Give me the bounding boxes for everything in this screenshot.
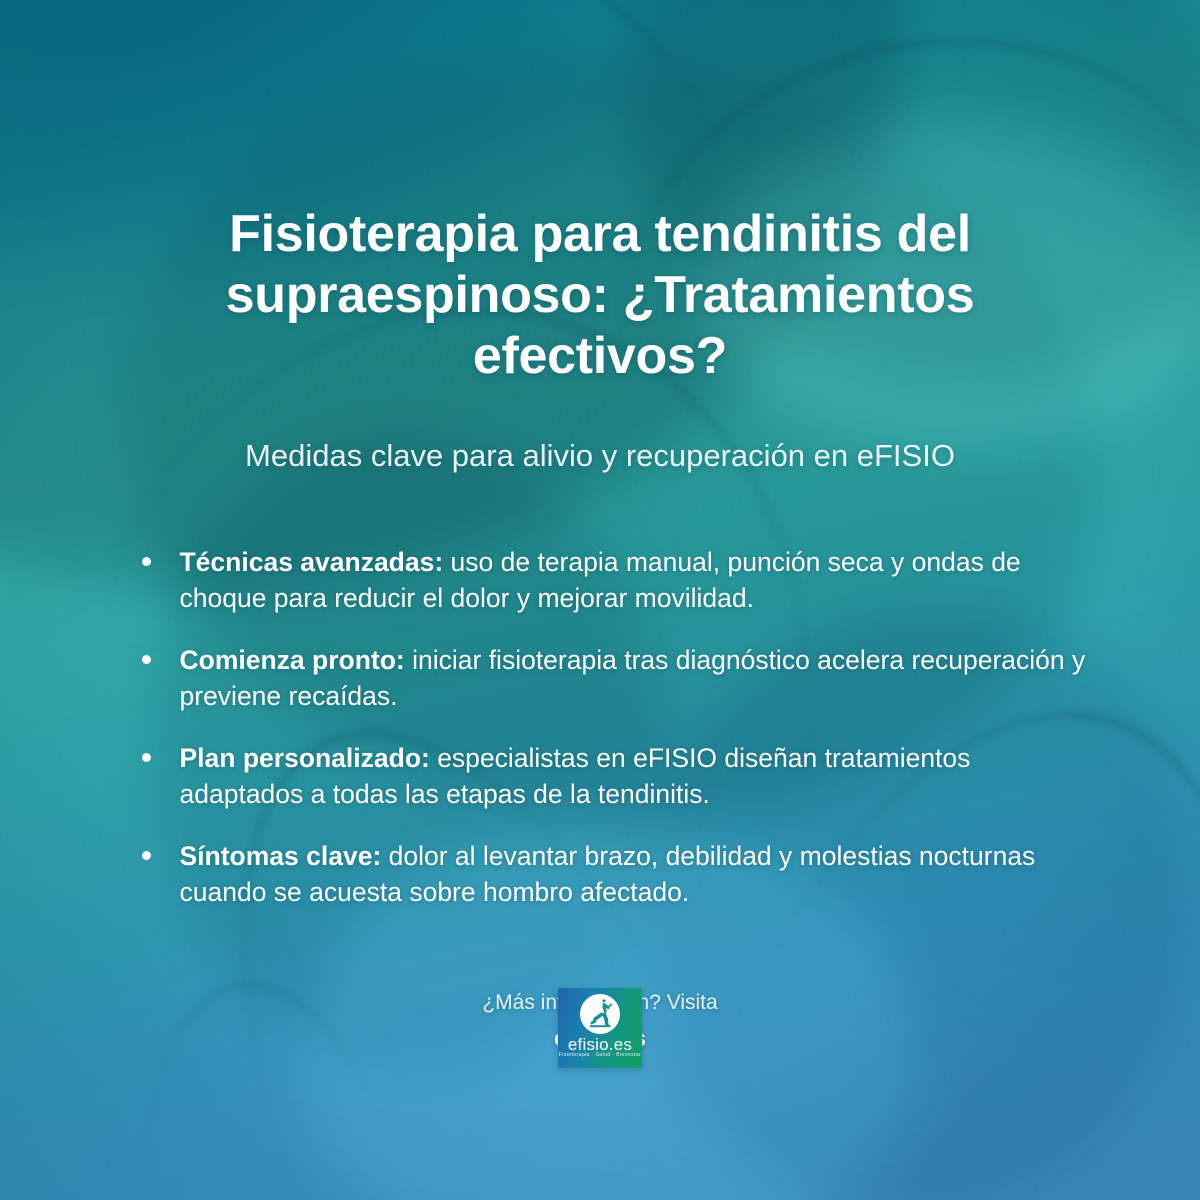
logo-tagline: Fisioterapia · Salud · Bienestar bbox=[558, 1053, 642, 1058]
list-item-lead: Plan personalizado: bbox=[180, 743, 430, 773]
list-item: Plan personalizado: especialistas en eFI… bbox=[123, 740, 1088, 812]
logo-wordmark: efisio.es bbox=[558, 1036, 642, 1053]
poster-canvas: Fisioterapia para tendinitis del supraes… bbox=[0, 0, 1200, 1200]
list-item: Comienza pronto: iniciar fisioterapia tr… bbox=[123, 642, 1088, 714]
page-subtitle: Medidas clave para alivio y recuperación… bbox=[150, 437, 1050, 474]
bullet-dot-icon bbox=[142, 655, 151, 664]
list-item: Técnicas avanzadas: uso de terapia manua… bbox=[123, 544, 1088, 616]
bullet-dot-icon bbox=[142, 753, 151, 762]
stretching-person-icon bbox=[580, 994, 620, 1034]
list-item-lead: Técnicas avanzadas: bbox=[180, 547, 444, 577]
list-item-lead: Síntomas clave: bbox=[180, 841, 382, 871]
bullet-dot-icon bbox=[142, 557, 151, 566]
brand-logo[interactable]: efisio.es Fisioterapia · Salud · Bienest… bbox=[558, 988, 642, 1068]
page-title: Fisioterapia para tendinitis del supraes… bbox=[170, 204, 1030, 386]
key-points-list: Técnicas avanzadas: uso de terapia manua… bbox=[123, 544, 1088, 910]
list-item-lead: Comienza pronto: bbox=[180, 645, 405, 675]
bullet-dot-icon bbox=[142, 851, 151, 860]
list-item: Síntomas clave: dolor al levantar brazo,… bbox=[123, 838, 1088, 910]
